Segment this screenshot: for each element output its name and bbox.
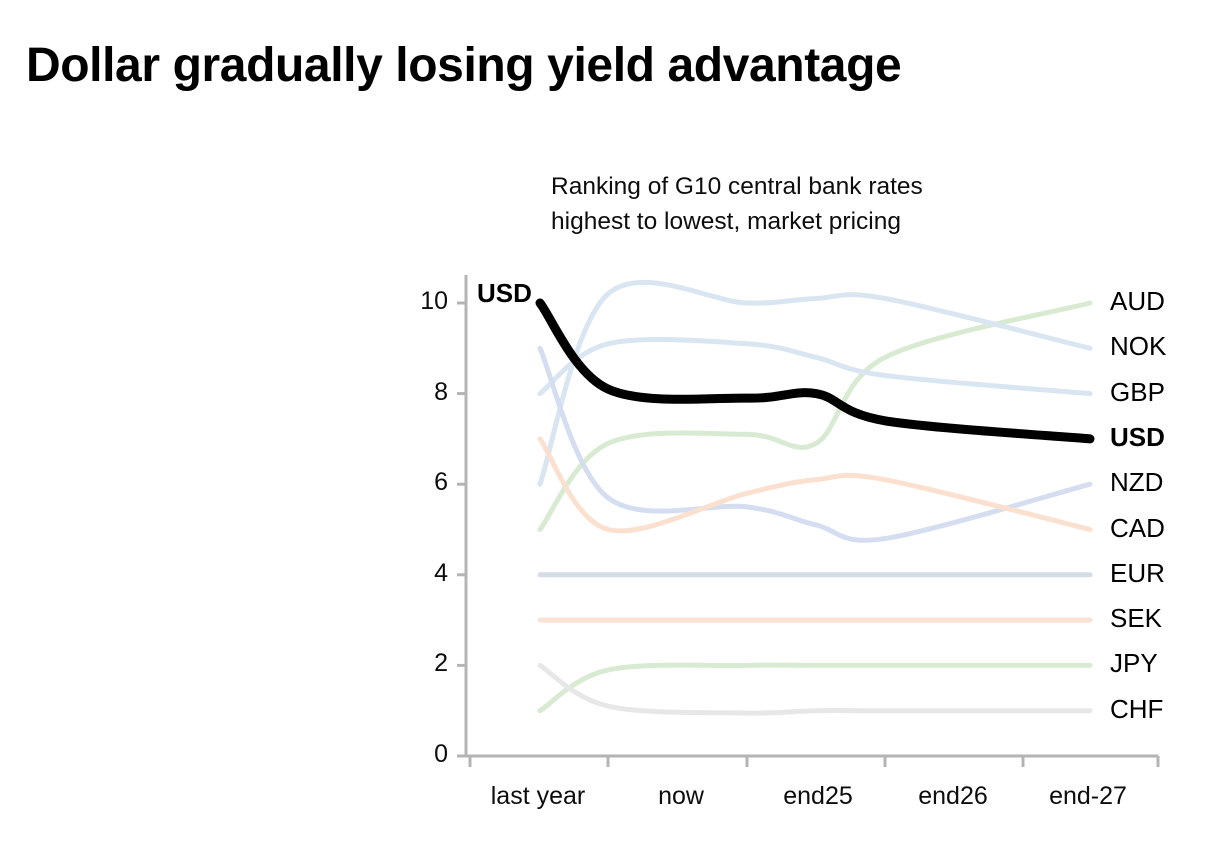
series-line-chf xyxy=(540,665,1090,713)
series-label-eur: EUR xyxy=(1110,558,1165,589)
series-line-nok xyxy=(540,282,1090,484)
series-line-jpy xyxy=(540,665,1090,711)
y-tick-label: 2 xyxy=(404,649,448,678)
chart-container: Dollar gradually losing yield advantage … xyxy=(0,0,1211,851)
plot-area xyxy=(0,0,1211,851)
x-tick-label: last year xyxy=(458,782,618,811)
x-tick-label: now xyxy=(601,782,761,811)
series-label-gbp: GBP xyxy=(1110,377,1165,408)
series-line-gbp xyxy=(540,340,1090,394)
series-label-cad: CAD xyxy=(1110,513,1165,544)
y-tick-label: 8 xyxy=(404,378,448,407)
series-line-cad xyxy=(540,439,1090,531)
series-label-nok: NOK xyxy=(1110,331,1166,362)
x-tick-label: end-27 xyxy=(1008,782,1168,811)
y-tick-label: 4 xyxy=(404,559,448,588)
series-line-aud xyxy=(540,303,1090,530)
y-tick-label: 6 xyxy=(404,468,448,497)
series-label-usd: USD xyxy=(1110,422,1165,453)
series-label-aud: AUD xyxy=(1110,286,1165,317)
series-lines xyxy=(540,282,1090,713)
series-label-chf: CHF xyxy=(1110,694,1163,725)
usd-inline-label: USD xyxy=(477,278,532,309)
y-tick-label: 0 xyxy=(404,740,448,769)
series-label-nzd: NZD xyxy=(1110,467,1163,498)
series-label-sek: SEK xyxy=(1110,603,1162,634)
y-tick-label: 10 xyxy=(404,287,448,316)
series-label-jpy: JPY xyxy=(1110,648,1158,679)
